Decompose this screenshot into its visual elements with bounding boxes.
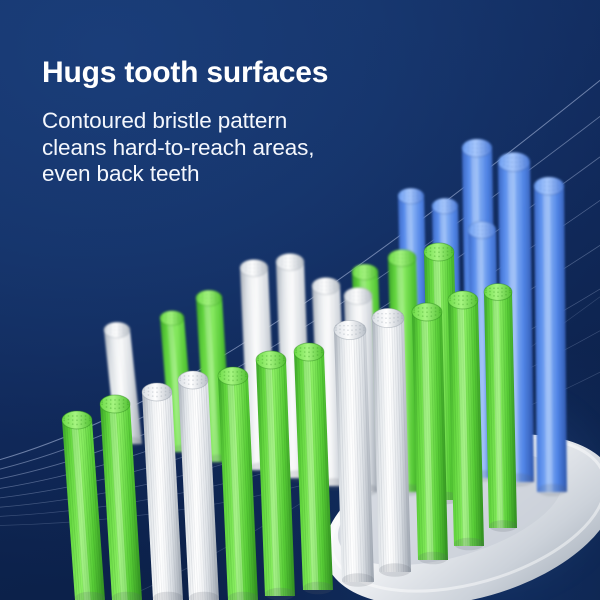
tuft-green-front-1 [62, 411, 105, 600]
page-title: Hugs tooth surfaces [42, 56, 462, 90]
subtitle-line-1: Contoured bristle pattern [42, 108, 372, 135]
page-subtitle: Contoured bristle pattern cleans hard-to… [42, 108, 372, 188]
tuft-green-front-7 [448, 291, 484, 550]
tuft-blue-tall-3 [534, 177, 567, 496]
tuft-green-front-6 [412, 303, 448, 564]
promo-image-canvas: Hugs tooth surfaces Contoured bristle pa… [0, 0, 600, 600]
subtitle-line-2: cleans hard-to-reach areas, [42, 135, 372, 162]
subtitle-line-3: even back teeth [42, 161, 372, 188]
tuft-green-front-8 [484, 284, 517, 532]
copy-block: Hugs tooth surfaces Contoured bristle pa… [42, 56, 462, 188]
